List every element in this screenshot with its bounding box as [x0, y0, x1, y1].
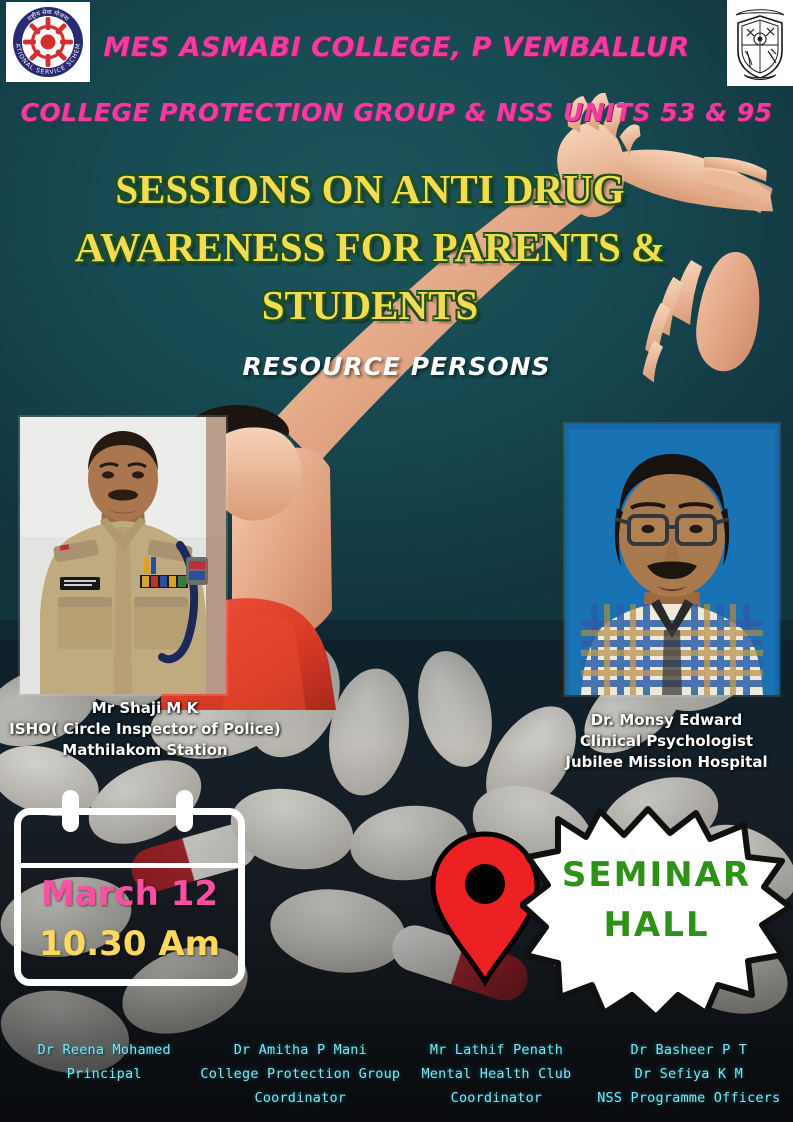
caption-line: Clinical Psychologist — [540, 731, 793, 752]
header-line-1: MES ASMABI COLLEGE, P VEMBALLUR — [0, 32, 793, 63]
credit-line: Dr Reena Mohamed — [8, 1038, 200, 1062]
credit-line: Coordinator — [200, 1086, 400, 1110]
venue-label: SEMINAR HALL — [520, 850, 793, 950]
credits-row: Dr Reena Mohamed Principal Dr Amitha P M… — [0, 1038, 793, 1122]
credit-line: Coordinator — [400, 1086, 592, 1110]
event-date: March 12 — [14, 874, 245, 914]
event-time: 10.30 Am — [14, 924, 245, 964]
credit-line: Mr Lathif Penath — [400, 1038, 592, 1062]
caption-line: Dr. Monsy Edward — [540, 710, 793, 731]
photo-shaji-m-k — [20, 417, 226, 694]
credit-line: NSS Programme Officers — [593, 1086, 785, 1110]
credit-line: Principal — [8, 1062, 200, 1086]
credit-line: Dr Amitha P Mani — [200, 1038, 400, 1062]
caption-line: ISHO( Circle Inspector of Police) — [0, 719, 290, 740]
credit-nss-programme-officers: Dr Basheer P T Dr Sefiya K M NSS Program… — [593, 1038, 785, 1110]
credit-cpg-coordinator: Dr Amitha P Mani College Protection Grou… — [200, 1038, 400, 1110]
credit-principal: Dr Reena Mohamed Principal — [8, 1038, 200, 1086]
venue-line-1: SEMINAR — [520, 850, 793, 900]
venue-line-2: HALL — [520, 900, 793, 950]
page-title: SESSIONS ON ANTI DRUG AWARENESS FOR PARE… — [60, 160, 680, 334]
calendar-header-divider — [21, 863, 238, 868]
calendar-ring-left — [62, 790, 79, 832]
photo-monsy-edward — [565, 424, 779, 695]
title-line-3: STUDENTS — [60, 276, 680, 334]
caption-monsy-edward: Dr. Monsy Edward Clinical Psychologist J… — [540, 710, 793, 773]
credit-line: Mental Health Club — [400, 1062, 592, 1086]
title-line-1: SESSIONS ON ANTI DRUG — [60, 160, 680, 218]
caption-line: Mr Shaji M K — [0, 698, 290, 719]
credit-line: College Protection Group — [200, 1062, 400, 1086]
credit-line: Dr Sefiya K M — [593, 1062, 785, 1086]
caption-line: Jubilee Mission Hospital — [540, 752, 793, 773]
calendar-ring-right — [176, 790, 193, 832]
poster: राष्ट्रीय सेवा योजना NATIONAL SERVICE SC… — [0, 0, 793, 1122]
caption-line: Mathilakom Station — [0, 740, 290, 761]
credit-mental-health-club: Mr Lathif Penath Mental Health Club Coor… — [400, 1038, 592, 1110]
resource-persons-label: RESOURCE PERSONS — [0, 352, 793, 381]
header-line-2: COLLEGE PROTECTION GROUP & NSS UNITS 53 … — [0, 98, 793, 127]
credit-line: Dr Basheer P T — [593, 1038, 785, 1062]
calendar-icon: March 12 10.30 Am — [14, 790, 249, 990]
title-line-2: AWARENESS FOR PARENTS & — [60, 218, 680, 276]
caption-shaji-m-k: Mr Shaji M K ISHO( Circle Inspector of P… — [0, 698, 290, 761]
